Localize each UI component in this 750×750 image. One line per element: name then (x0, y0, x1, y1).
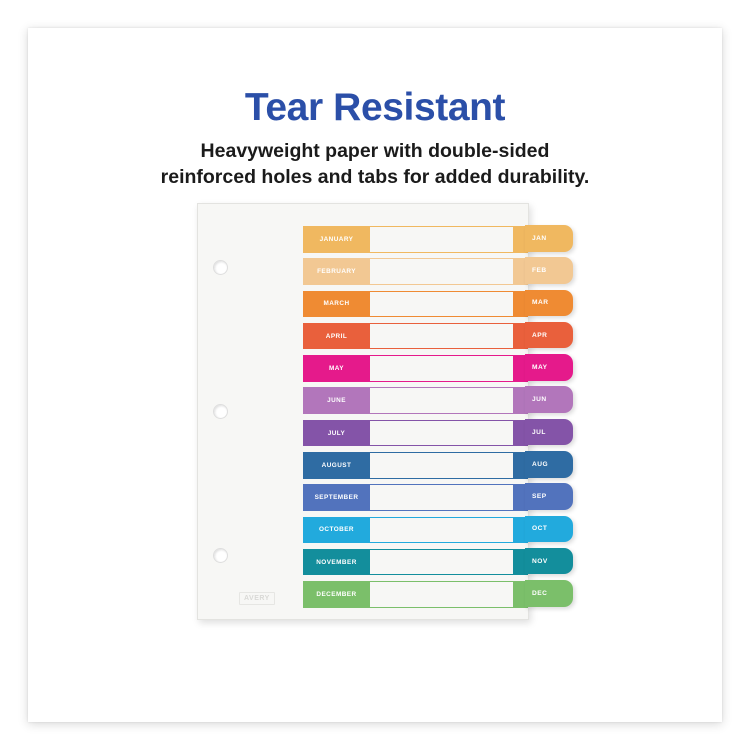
subtitle-line-1: Heavyweight paper with double-sided (28, 138, 722, 164)
index-tab: APR (525, 322, 573, 349)
divider-row: AUGUST (303, 452, 528, 479)
writing-area (370, 517, 514, 544)
index-tab: DEC (525, 580, 573, 607)
writing-area (370, 452, 514, 479)
product-image-card: Tear Resistant Heavyweight paper with do… (28, 28, 722, 722)
binder-hole-bottom (213, 548, 228, 563)
index-tab: MAY (525, 354, 573, 381)
month-label: MARCH (303, 291, 370, 318)
month-label: NOVEMBER (303, 549, 370, 576)
index-tab-list: JANFEBMARAPRMAYJUNJULAUGSEPOCTNOVDEC (525, 225, 573, 613)
writing-area (370, 581, 514, 608)
writing-area (370, 226, 514, 253)
writing-area (370, 549, 514, 576)
binder-hole-middle (213, 404, 228, 419)
binder-hole-top (213, 260, 228, 275)
divider-row: FEBRUARY (303, 258, 528, 285)
writing-area (370, 291, 514, 318)
page-subtitle: Heavyweight paper with double-sided rein… (28, 138, 722, 190)
month-label: DECEMBER (303, 581, 370, 608)
month-label: OCTOBER (303, 517, 370, 544)
divider-row: OCTOBER (303, 517, 528, 544)
index-tab: NOV (525, 548, 573, 575)
writing-area (370, 387, 514, 414)
divider-row-list: JANUARYFEBRUARYMARCHAPRILMAYJUNEJULYAUGU… (303, 226, 528, 614)
month-label: AUGUST (303, 452, 370, 479)
index-tab: JUL (525, 419, 573, 446)
month-label: FEBRUARY (303, 258, 370, 285)
divider-row: APRIL (303, 323, 528, 350)
month-label: JANUARY (303, 226, 370, 253)
divider-row: MARCH (303, 291, 528, 318)
index-tab: MAR (525, 290, 573, 317)
divider-row: JUNE (303, 387, 528, 414)
divider-row: JULY (303, 420, 528, 447)
writing-area (370, 355, 514, 382)
divider-row: JANUARY (303, 226, 528, 253)
index-tab: SEP (525, 483, 573, 510)
avery-logo: AVERY (239, 592, 275, 605)
writing-area (370, 420, 514, 447)
divider-row: DECEMBER (303, 581, 528, 608)
index-tab: JUN (525, 386, 573, 413)
subtitle-line-2: reinforced holes and tabs for added dura… (28, 164, 722, 190)
month-label: JUNE (303, 387, 370, 414)
month-label: MAY (303, 355, 370, 382)
divider-row: SEPTEMBER (303, 484, 528, 511)
index-tab: FEB (525, 257, 573, 284)
writing-area (370, 484, 514, 511)
writing-area (370, 323, 514, 350)
month-label: JULY (303, 420, 370, 447)
writing-area (370, 258, 514, 285)
divider-row: MAY (303, 355, 528, 382)
index-tab: OCT (525, 516, 573, 543)
page-title: Tear Resistant (28, 86, 722, 130)
index-tab: JAN (525, 225, 573, 252)
divider-sheet: JANUARYFEBRUARYMARCHAPRILMAYJUNEJULYAUGU… (197, 203, 529, 620)
index-tab: AUG (525, 451, 573, 478)
month-label: APRIL (303, 323, 370, 350)
divider-row: NOVEMBER (303, 549, 528, 576)
month-label: SEPTEMBER (303, 484, 370, 511)
